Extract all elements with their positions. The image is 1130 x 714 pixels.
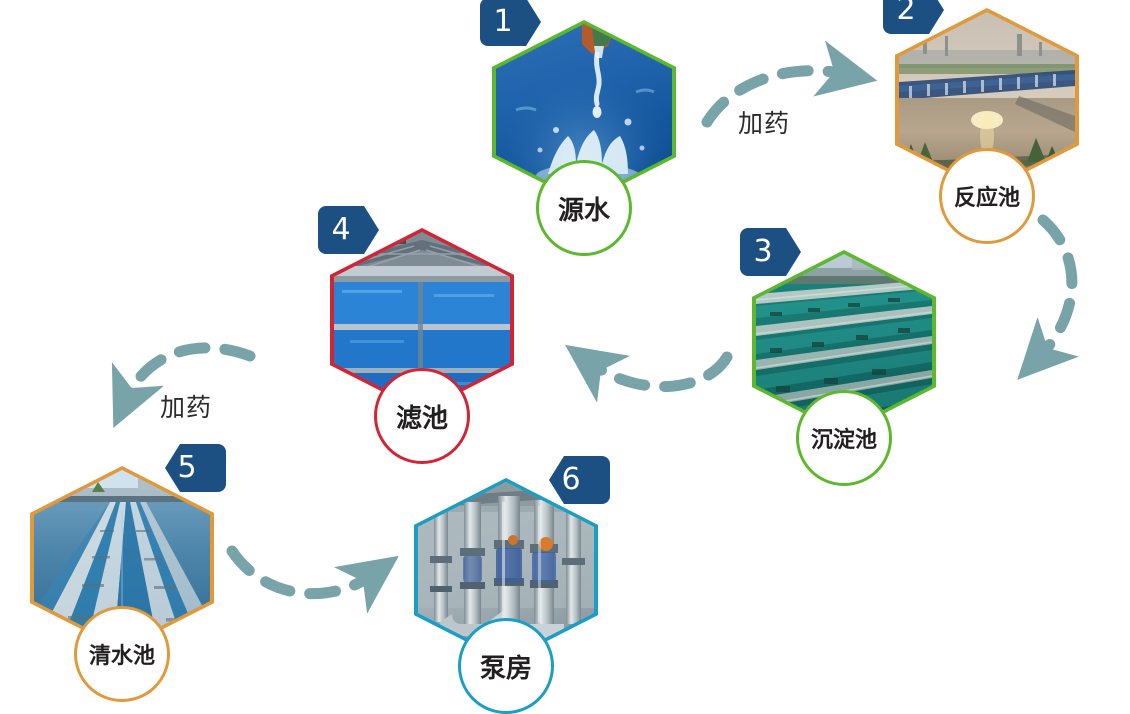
- arrow-5-to-6: [232, 551, 372, 594]
- node-label-text: 清水池: [89, 638, 155, 670]
- arrow-2-to-3: [1040, 220, 1072, 356]
- number-badge-1: 1: [480, 0, 542, 46]
- number-badge-3: 3: [740, 228, 802, 276]
- node-label-reaction-tank[interactable]: 反应池: [939, 148, 1035, 244]
- number-badge-2: 2: [883, 0, 945, 34]
- number-badge-5: 5: [164, 444, 226, 492]
- number-badge-6: 6: [548, 456, 610, 504]
- node-label-sedimentation-tank[interactable]: 沉淀池: [796, 390, 892, 486]
- badge-number-text: 6: [548, 456, 594, 504]
- node-label-text: 滤池: [396, 398, 448, 435]
- badge-number-text: 3: [740, 228, 786, 276]
- badge-number-text: 2: [883, 0, 929, 34]
- node-label-pump-house[interactable]: 泵房: [458, 618, 554, 714]
- badge-number-text: 1: [480, 0, 526, 46]
- arrow-3-to-4: [592, 357, 727, 387]
- badge-number-text: 4: [318, 206, 364, 254]
- node-source-water[interactable]: 1 源水: [492, 20, 676, 204]
- node-label-clear-water-tank[interactable]: 清水池: [74, 606, 170, 702]
- node-reaction-tank[interactable]: 2 反应池: [895, 8, 1079, 192]
- node-label-text: 源水: [558, 190, 610, 227]
- node-sedimentation-tank[interactable]: 3 沉淀池: [752, 250, 936, 434]
- node-label-filter-tank[interactable]: 滤池: [374, 368, 470, 464]
- node-pump-house[interactable]: 6 泵房: [414, 478, 598, 662]
- node-clear-water-tank[interactable]: 5 清水池: [30, 466, 214, 650]
- process-flow-diagram: 加药 加药: [0, 0, 1130, 714]
- arrow-label-dosing-2: 加药: [160, 388, 212, 424]
- node-label-text: 反应池: [954, 180, 1020, 212]
- arrow-label-dosing-1: 加药: [738, 104, 790, 140]
- node-label-text: 沉淀池: [811, 422, 877, 454]
- node-filter-tank[interactable]: 4 滤池: [330, 228, 514, 412]
- node-label-source-water[interactable]: 源水: [536, 160, 632, 256]
- node-label-text: 泵房: [480, 648, 532, 685]
- badge-number-text: 5: [164, 444, 210, 492]
- number-badge-4: 4: [318, 206, 380, 254]
